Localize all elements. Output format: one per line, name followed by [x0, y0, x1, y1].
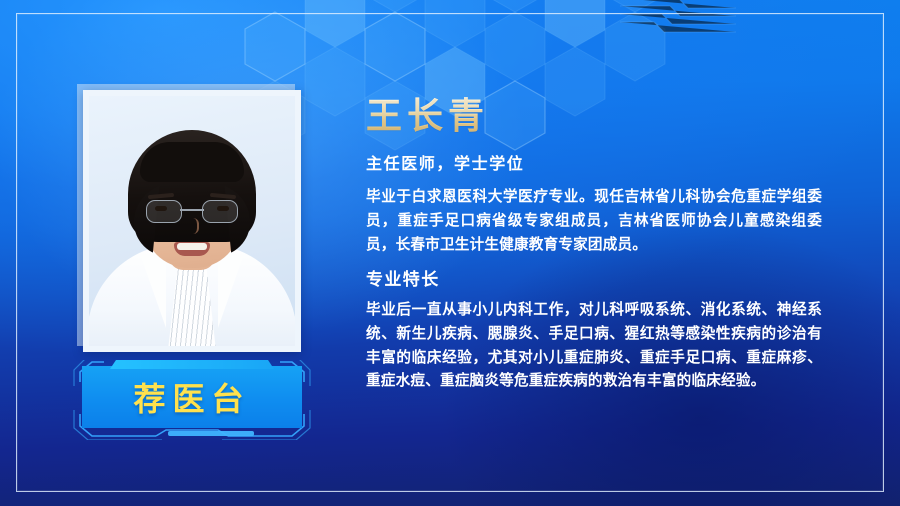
doctor-profile-slide: 荐医台 王长青 主任医师，学士学位 毕业于白求恩医科大学医疗专业。现任吉林省儿科… [0, 0, 900, 506]
specialty-heading: 专业特长 [366, 265, 822, 290]
doctor-title: 主任医师，学士学位 [366, 150, 822, 174]
doctor-bio: 毕业于白求恩医科大学医疗专业。现任吉林省儿科协会危重症学组委员，重症手足口病省级… [366, 186, 822, 257]
doctor-name: 王长青 [366, 96, 822, 136]
doctor-info-panel: 王长青 主任医师，学士学位 毕业于白求恩医科大学医疗专业。现任吉林省儿科协会危重… [366, 96, 822, 402]
circuit-lines-decoration [618, 0, 738, 34]
doctor-specialty: 毕业后一直从事小儿内科工作，对儿科呼吸系统、消化系统、神经系统、新生儿疾病、腮腺… [366, 299, 822, 394]
nameplate-bottom-accent [168, 431, 254, 436]
portrait-illustration [89, 96, 295, 346]
photo-frame [83, 90, 301, 352]
nameplate: 荐医台 [70, 360, 314, 440]
doctor-photo [83, 90, 301, 352]
nameplate-label: 荐医台 [82, 366, 302, 428]
photo-image [89, 96, 295, 346]
